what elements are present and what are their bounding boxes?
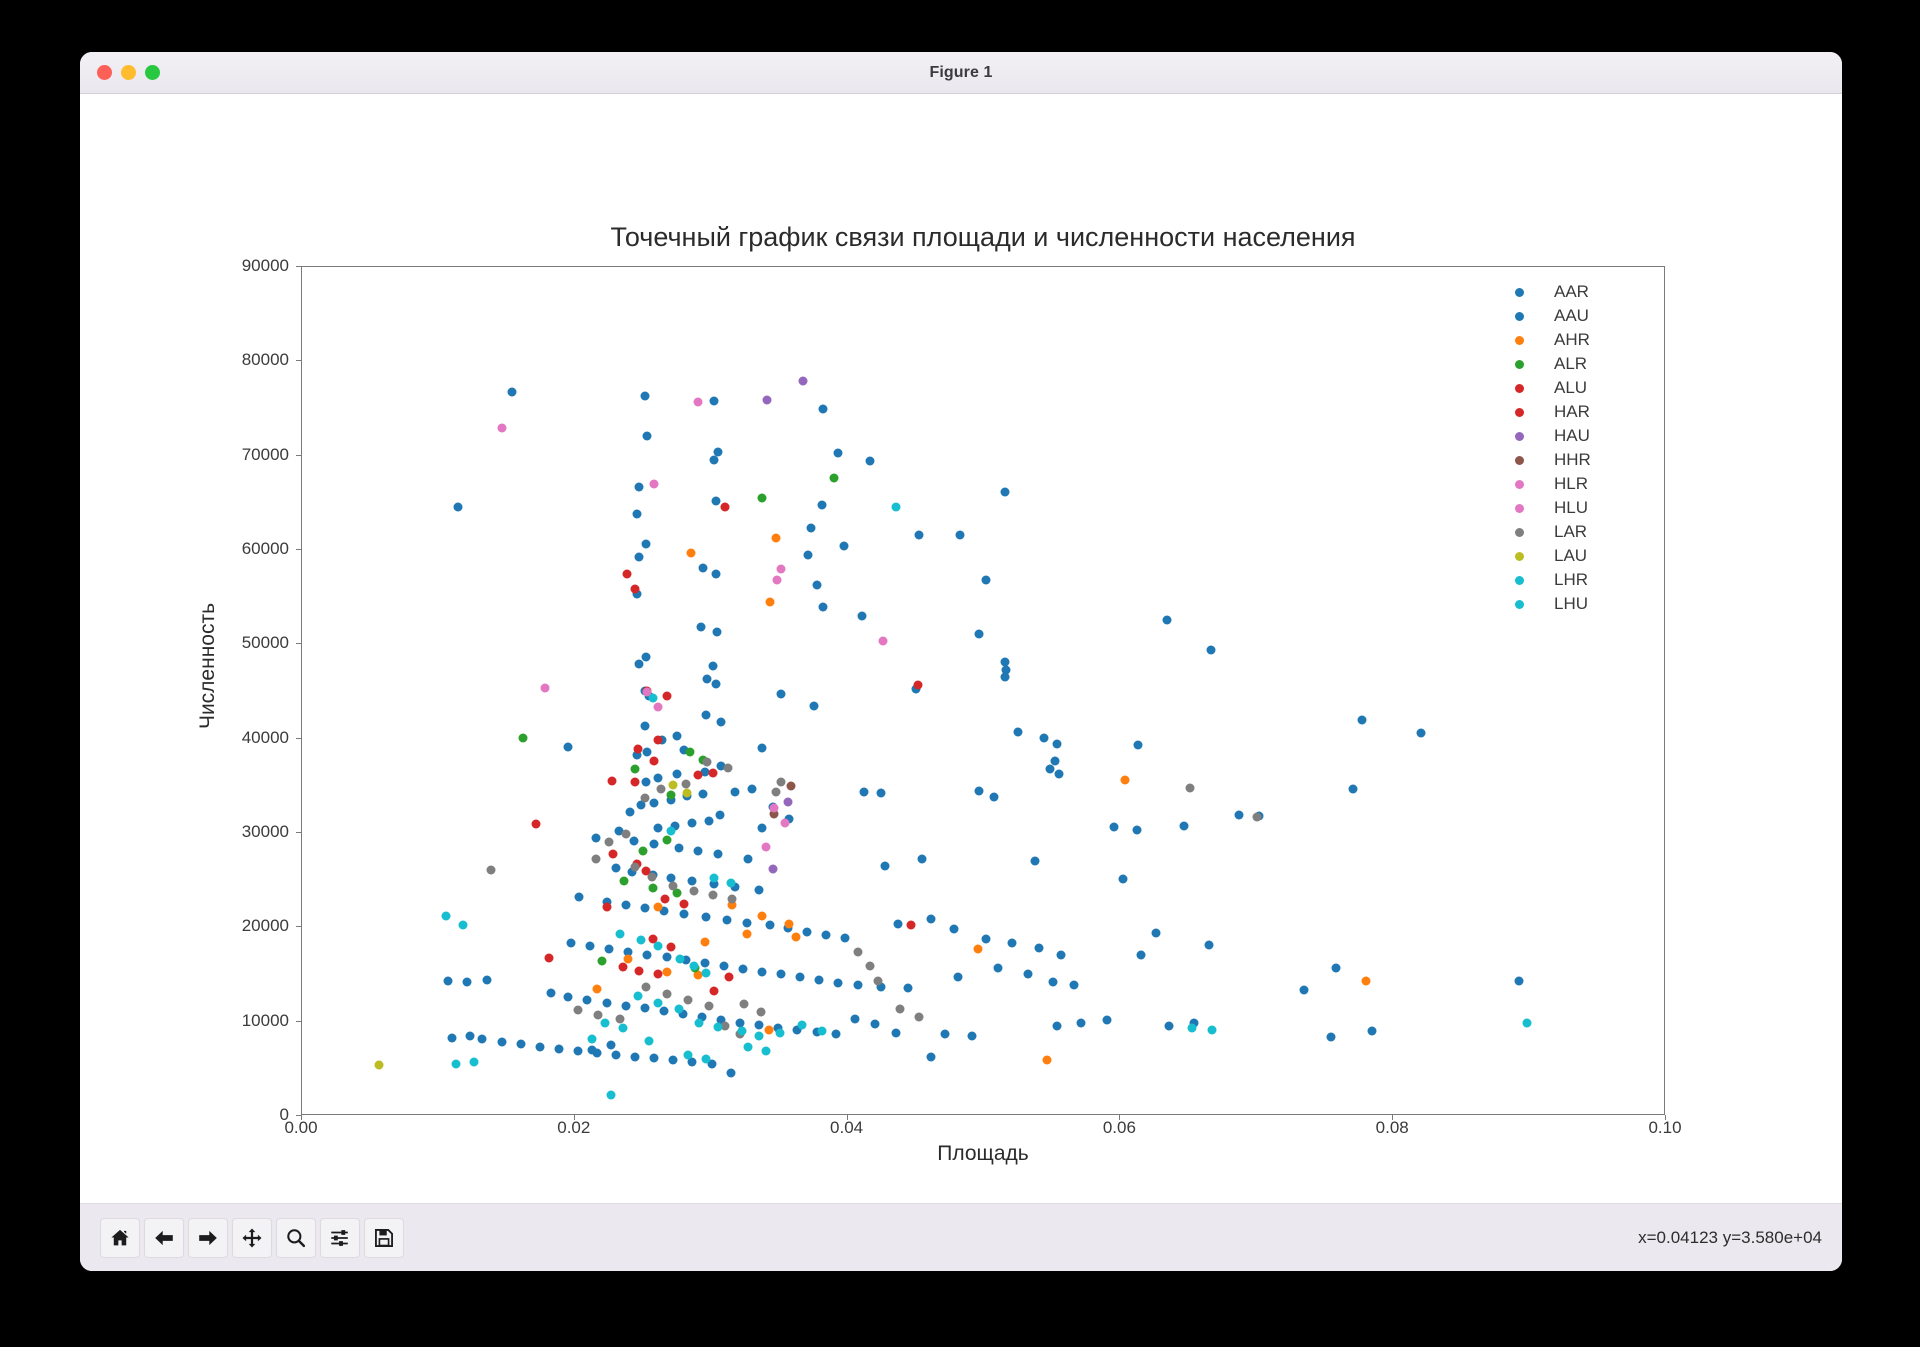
scatter-point — [374, 1061, 383, 1070]
y-tick-label: 20000 — [171, 916, 289, 936]
legend-label: LHU — [1554, 594, 1588, 614]
legend-marker-icon — [1515, 504, 1524, 513]
scatter-point — [587, 1045, 596, 1054]
scatter-point — [666, 943, 675, 952]
forward-arrow-icon — [197, 1227, 219, 1249]
scatter-point — [726, 1068, 735, 1077]
legend-item-aau[interactable]: AAU — [1493, 304, 1643, 328]
magnifier-zoom-icon — [285, 1227, 307, 1249]
scatter-point — [974, 629, 983, 638]
scatter-point — [927, 1052, 936, 1061]
legend-marker-icon — [1515, 360, 1524, 369]
scatter-point — [478, 1034, 487, 1043]
scatter-point — [680, 910, 689, 919]
scatter-point — [673, 770, 682, 779]
x-axis-label: Площадь — [301, 1142, 1665, 1166]
scatter-point — [636, 935, 645, 944]
legend-item-hhr[interactable]: HHR — [1493, 448, 1643, 472]
scatter-point — [587, 1034, 596, 1043]
y-tick-label: 70000 — [171, 445, 289, 465]
scatter-point — [777, 970, 786, 979]
legend-marker-icon — [1515, 312, 1524, 321]
scatter-point — [777, 778, 786, 787]
legend-item-aar[interactable]: AAR — [1493, 280, 1643, 304]
scatter-point — [676, 955, 685, 964]
scatter-point — [635, 482, 644, 491]
scatter-point — [940, 1029, 949, 1038]
scatter-point — [1515, 977, 1524, 986]
navigation-toolbar: x=0.04123 y=3.580e+04 — [80, 1203, 1842, 1271]
y-tick-mark — [296, 1021, 301, 1022]
scatter-point — [865, 961, 874, 970]
scatter-point — [809, 701, 818, 710]
window-titlebar: Figure 1 — [80, 52, 1842, 94]
y-tick-mark — [296, 926, 301, 927]
scatter-point — [839, 542, 848, 551]
scatter-point — [1034, 944, 1043, 953]
back-arrow-icon — [153, 1227, 175, 1249]
legend-label: HAU — [1554, 426, 1590, 446]
toolbar-buttons — [100, 1218, 404, 1258]
legend-item-hlu[interactable]: HLU — [1493, 496, 1643, 520]
scatter-point — [796, 973, 805, 982]
scatter-point — [1109, 823, 1118, 832]
scatter-point — [710, 874, 719, 883]
scatter-point — [773, 576, 782, 585]
scatter-point — [1367, 1027, 1376, 1036]
scatter-point — [1014, 728, 1023, 737]
scatter-point — [955, 530, 964, 539]
scatter-point — [689, 961, 698, 970]
scatter-point — [666, 791, 675, 800]
scatter-point — [719, 961, 728, 970]
legend-label: ALR — [1554, 354, 1587, 374]
scatter-point — [713, 628, 722, 637]
scatter-point — [441, 911, 450, 920]
scatter-point — [1045, 764, 1054, 773]
scatter-point — [815, 976, 824, 985]
scatter-point — [662, 990, 671, 999]
y-tick-label: 0 — [171, 1105, 289, 1125]
scatter-point — [586, 942, 595, 951]
scatter-point — [631, 778, 640, 787]
y-tick-label: 90000 — [171, 256, 289, 276]
scatter-point — [452, 1060, 461, 1069]
scatter-point — [873, 977, 882, 986]
scatter-point — [792, 932, 801, 941]
scatter-point — [1206, 645, 1215, 654]
scatter-point — [674, 844, 683, 853]
scatter-point — [662, 692, 671, 701]
scatter-point — [650, 798, 659, 807]
scatter-point — [601, 1019, 610, 1028]
scatter-point — [812, 580, 821, 589]
scatter-point — [1052, 1022, 1061, 1031]
scatter-point — [640, 794, 649, 803]
save-button[interactable] — [364, 1218, 404, 1258]
scatter-point — [662, 953, 671, 962]
scatter-point — [758, 824, 767, 833]
scatter-point — [605, 944, 614, 953]
scatter-point — [758, 494, 767, 503]
scatter-point — [860, 788, 869, 797]
y-tick-mark — [296, 455, 301, 456]
scatter-point — [629, 837, 638, 846]
scatter-point — [974, 787, 983, 796]
scatter-point — [647, 873, 656, 882]
scatter-point — [519, 733, 528, 742]
scatter-point — [783, 797, 792, 806]
scatter-point — [606, 1091, 615, 1100]
scatter-point — [710, 456, 719, 465]
scatter-point — [575, 893, 584, 902]
scatter-point — [688, 877, 697, 886]
scatter-point — [632, 510, 641, 519]
scatter-point — [1358, 715, 1367, 724]
scatter-point — [981, 934, 990, 943]
legend-item-hlr[interactable]: HLR — [1493, 472, 1643, 496]
scatter-point — [1208, 1026, 1217, 1035]
scatter-point — [602, 902, 611, 911]
scatter-point — [642, 982, 651, 991]
legend-label: HAR — [1554, 402, 1590, 422]
scatter-point — [1299, 986, 1308, 995]
scatter-point — [711, 570, 720, 579]
scatter-point — [541, 683, 550, 692]
scatter-point — [756, 1008, 765, 1017]
scatter-point — [730, 788, 739, 797]
scatter-point — [633, 992, 642, 1001]
coordinate-status: x=0.04123 y=3.580e+04 — [1638, 1228, 1822, 1248]
scatter-point — [871, 1020, 880, 1029]
floppy-save-icon — [373, 1227, 395, 1249]
scatter-point — [710, 396, 719, 405]
scatter-point — [640, 392, 649, 401]
scatter-point — [723, 763, 732, 772]
scatter-point — [654, 998, 663, 1007]
zoom-button[interactable] — [276, 1218, 316, 1258]
scatter-point — [684, 995, 693, 1004]
scatter-point — [564, 993, 573, 1002]
scatter-point — [954, 973, 963, 982]
scatter-point — [453, 503, 462, 512]
scatter-point — [609, 849, 618, 858]
scatter-point — [702, 1055, 711, 1064]
home-button[interactable] — [100, 1218, 140, 1258]
scatter-point — [708, 891, 717, 900]
legend-marker-icon — [1515, 432, 1524, 441]
scatter-point — [606, 1041, 615, 1050]
scatter-point — [695, 1018, 704, 1027]
scatter-point — [755, 1021, 764, 1030]
scatter-point — [459, 921, 468, 930]
scatter-point — [1052, 740, 1061, 749]
scatter-point — [592, 984, 601, 993]
scatter-point — [1253, 812, 1262, 821]
scatter-point — [702, 968, 711, 977]
scatter-point — [700, 959, 709, 968]
pan-button[interactable] — [232, 1218, 272, 1258]
scatter-point — [1119, 875, 1128, 884]
scatter-point — [819, 405, 828, 414]
scatter-point — [605, 838, 614, 847]
scatter-point — [642, 540, 651, 549]
scatter-point — [1416, 728, 1425, 737]
legend-item-ahr[interactable]: AHR — [1493, 328, 1643, 352]
scatter-point — [1133, 826, 1142, 835]
scatter-point — [674, 1005, 683, 1014]
y-tick-label: 50000 — [171, 633, 289, 653]
scatter-point — [786, 781, 795, 790]
scatter-point — [744, 1043, 753, 1052]
scatter-point — [1000, 673, 1009, 682]
scatter-point — [917, 855, 926, 864]
scatter-point — [768, 864, 777, 873]
scatter-point — [554, 1044, 563, 1053]
scatter-point — [785, 919, 794, 928]
scatter-point — [798, 377, 807, 386]
scatter-point — [688, 818, 697, 827]
scatter-point — [1186, 783, 1195, 792]
scatter-point — [666, 827, 675, 836]
scatter-point — [1332, 963, 1341, 972]
x-tick-label: 0.04 — [830, 1118, 863, 1138]
legend-item-lhr[interactable]: LHR — [1493, 568, 1643, 592]
scatter-point — [635, 552, 644, 561]
legend-item-lau[interactable]: LAU — [1493, 544, 1643, 568]
scatter-point — [762, 843, 771, 852]
scatter-point — [654, 942, 663, 951]
scatter-point — [834, 448, 843, 457]
scatter-point — [708, 661, 717, 670]
scatter-point — [625, 808, 634, 817]
scatter-point — [650, 479, 659, 488]
scatter-point — [770, 804, 779, 813]
scatter-point — [722, 915, 731, 924]
scatter-point — [1137, 950, 1146, 959]
scatter-point — [989, 793, 998, 802]
scatter-point — [879, 636, 888, 645]
scatter-point — [748, 784, 757, 793]
legend-item-har[interactable]: HAR — [1493, 400, 1643, 424]
scatter-point — [803, 927, 812, 936]
scatter-point — [573, 1006, 582, 1015]
scatter-point — [740, 999, 749, 1008]
scatter-point — [711, 496, 720, 505]
scatter-point — [618, 962, 627, 971]
scatter-point — [1348, 784, 1357, 793]
y-tick-label: 10000 — [171, 1011, 289, 1031]
legend-label: LAR — [1554, 522, 1587, 542]
legend-label: LHR — [1554, 570, 1588, 590]
legend-label: HLR — [1554, 474, 1588, 494]
scatter-point — [822, 930, 831, 939]
scatter-point — [466, 1031, 475, 1040]
scatter-point — [531, 820, 540, 829]
scatter-point — [612, 1050, 621, 1059]
scatter-point — [618, 1024, 627, 1033]
y-tick-mark — [296, 1115, 301, 1116]
x-tick-label: 0.10 — [1648, 1118, 1681, 1138]
scatter-point — [914, 1012, 923, 1021]
scatter-point — [654, 702, 663, 711]
scatter-point — [927, 914, 936, 923]
scatter-point — [612, 863, 621, 872]
scatter-point — [763, 395, 772, 404]
scatter-point — [743, 929, 752, 938]
scatter-point — [591, 855, 600, 864]
scatter-point — [738, 964, 747, 973]
scatter-point — [1362, 977, 1371, 986]
scatter-point — [591, 833, 600, 842]
scatter-point — [622, 570, 631, 579]
forward-button[interactable] — [188, 1218, 228, 1258]
desktop-background: Figure 1 Точечный график связи площади и… — [0, 0, 1920, 1347]
scatter-point — [635, 966, 644, 975]
scatter-point — [681, 779, 690, 788]
scatter-point — [643, 431, 652, 440]
scatter-point — [654, 774, 663, 783]
scatter-point — [693, 771, 702, 780]
scatter-point — [726, 878, 735, 887]
home-icon — [109, 1227, 131, 1249]
scatter-point — [650, 1054, 659, 1063]
scatter-point — [831, 1029, 840, 1038]
figure-canvas[interactable]: Точечный график связи площади и численно… — [80, 94, 1842, 1203]
figure-window: Figure 1 Точечный график связи площади и… — [80, 52, 1842, 1271]
scatter-point — [755, 885, 764, 894]
sliders-configure-icon — [329, 1227, 351, 1249]
scatter-point — [766, 921, 775, 930]
scatter-point — [699, 563, 708, 572]
scatter-point — [567, 939, 576, 948]
scatter-point — [758, 911, 767, 920]
legend-marker-icon — [1515, 288, 1524, 297]
scatter-point — [640, 904, 649, 913]
legend-marker-icon — [1515, 600, 1524, 609]
scatter-point — [711, 679, 720, 688]
scatter-point — [1040, 733, 1049, 742]
scatter-point — [865, 457, 874, 466]
scatter-point — [853, 947, 862, 956]
scatter-point — [683, 789, 692, 798]
scatter-point — [807, 524, 816, 533]
legend-label: HLU — [1554, 498, 1588, 518]
pan-move-icon — [241, 1227, 263, 1249]
scatter-point — [1030, 857, 1039, 866]
legend-item-alr[interactable]: ALR — [1493, 352, 1643, 376]
scatter-point — [725, 973, 734, 982]
configure-subplots-button[interactable] — [320, 1218, 360, 1258]
scatter-point — [659, 1007, 668, 1016]
back-button[interactable] — [144, 1218, 184, 1258]
scatter-point — [673, 731, 682, 740]
scatter-point — [657, 784, 666, 793]
y-axis-label: Численность — [196, 516, 220, 816]
scatter-point — [685, 747, 694, 756]
scatter-point — [644, 1037, 653, 1046]
scatter-point — [564, 743, 573, 752]
scatter-point — [777, 690, 786, 699]
scatter-point — [448, 1033, 457, 1042]
scatter-point — [1152, 928, 1161, 937]
scatter-point — [1056, 950, 1065, 959]
scatter-point — [616, 1014, 625, 1023]
x-tick-label: 0.00 — [284, 1118, 317, 1138]
scatter-point — [764, 1026, 773, 1035]
scatter-point — [700, 938, 709, 947]
scatter-point — [818, 1027, 827, 1036]
y-tick-mark — [296, 549, 301, 550]
scatter-point — [717, 717, 726, 726]
y-tick-mark — [296, 738, 301, 739]
legend-label: HHR — [1554, 450, 1591, 470]
scatter-point — [621, 900, 630, 909]
legend-marker-icon — [1515, 480, 1524, 489]
scatter-point — [643, 950, 652, 959]
scatter-point — [463, 977, 472, 986]
scatter-point — [895, 1005, 904, 1014]
scatter-point — [1077, 1018, 1086, 1027]
scatter-point — [771, 788, 780, 797]
scatter-point — [680, 899, 689, 908]
scatter-point — [968, 1031, 977, 1040]
legend-marker-icon — [1515, 384, 1524, 393]
scatter-point — [654, 736, 663, 745]
legend-label: AAU — [1554, 306, 1589, 326]
scatter-point — [950, 925, 959, 934]
scatter-point — [482, 976, 491, 985]
scatter-point — [648, 883, 657, 892]
scatter-point — [880, 861, 889, 870]
legend-label: AAR — [1554, 282, 1589, 302]
legend-item-lhu[interactable]: LHU — [1493, 592, 1643, 616]
legend-label: LAU — [1554, 546, 1587, 566]
scatter-point — [777, 564, 786, 573]
scatter-point — [1070, 980, 1079, 989]
scatter-point — [648, 694, 657, 703]
scatter-point — [1326, 1032, 1335, 1041]
scatter-point — [1179, 822, 1188, 831]
scatter-point — [903, 983, 912, 992]
scatter-point — [1134, 741, 1143, 750]
scatter-point — [728, 894, 737, 903]
scatter-point — [669, 881, 678, 890]
scatter-point — [1007, 939, 1016, 948]
scatter-point — [669, 780, 678, 789]
scatter-point — [973, 944, 982, 953]
scatter-point — [721, 503, 730, 512]
scatter-point — [819, 603, 828, 612]
scatter-point — [708, 768, 717, 777]
scatter-point — [693, 397, 702, 406]
scatter-point — [640, 1004, 649, 1013]
scatter-point — [607, 777, 616, 786]
legend-item-alu[interactable]: ALU — [1493, 376, 1643, 400]
scatter-point — [715, 811, 724, 820]
scatter-point — [841, 933, 850, 942]
legend-item-hau[interactable]: HAU — [1493, 424, 1643, 448]
scatter-point — [1103, 1015, 1112, 1024]
legend-item-lar[interactable]: LAR — [1493, 520, 1643, 544]
scatter-point — [704, 1001, 713, 1010]
scatter-point — [1000, 488, 1009, 497]
scatter-point — [654, 824, 663, 833]
scatter-point — [758, 744, 767, 753]
scatter-point — [470, 1058, 479, 1067]
scatter-point — [804, 550, 813, 559]
scatter-point — [703, 758, 712, 767]
